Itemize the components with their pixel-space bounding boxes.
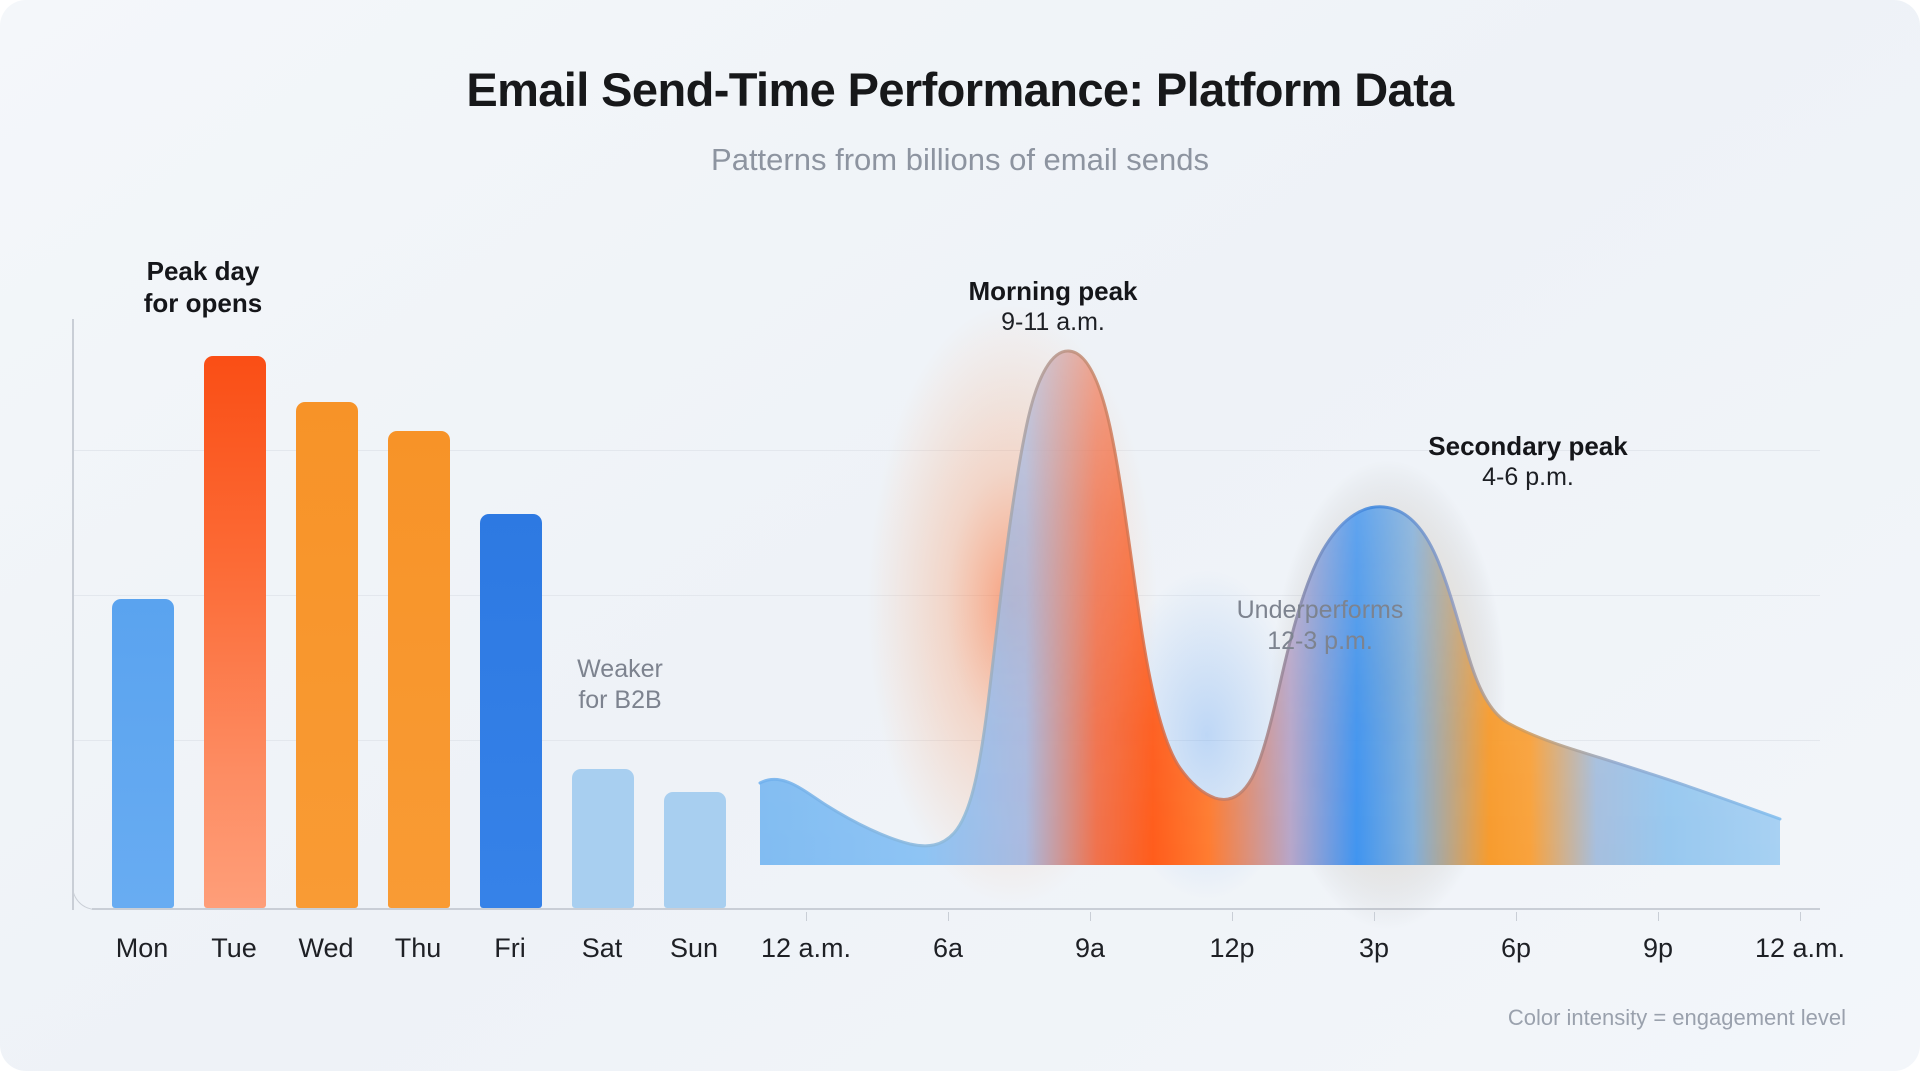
page-subtitle: Patterns from billions of email sends [0, 142, 1920, 178]
callout-secondary-peak-line2: 4-6 p.m. [1363, 462, 1693, 493]
callout-peak-day-line1: Peak day [88, 255, 318, 287]
callout-underperforms-line2: 12-3 p.m. [1200, 626, 1440, 657]
chart-footnote: Color intensity = engagement level [1508, 1005, 1846, 1031]
callout-morning-peak: Morning peak 9-11 a.m. [898, 275, 1208, 338]
tickmark [806, 912, 807, 921]
bar-sun[interactable] [664, 792, 726, 908]
callout-underperforms-line1: Underperforms [1200, 595, 1440, 626]
tickmark [1658, 912, 1659, 921]
bar-tue[interactable] [204, 356, 266, 908]
page-title: Email Send-Time Performance: Platform Da… [0, 62, 1920, 117]
xtick-hour-9p: 9p [1598, 933, 1718, 964]
callout-weaker-b2b: Weaker for B2B [520, 654, 720, 716]
callout-underperforms: Underperforms 12-3 p.m. [1200, 595, 1440, 657]
x-axis-baseline [92, 908, 1820, 910]
callout-weaker-b2b-line1: Weaker [520, 654, 720, 685]
xtick-hour-6a: 6a [888, 933, 1008, 964]
y-axis-spine [72, 319, 74, 910]
tickmark [1090, 912, 1091, 921]
callout-morning-peak-line2: 9-11 a.m. [898, 307, 1208, 338]
xtick-hour-12am-end: 12 a.m. [1720, 933, 1880, 964]
callout-morning-peak-line1: Morning peak [898, 275, 1208, 307]
tickmark [1516, 912, 1517, 921]
callout-peak-day: Peak day for opens [88, 255, 318, 319]
callout-secondary-peak-line1: Secondary peak [1363, 430, 1693, 462]
xtick-hour-12am-start: 12 a.m. [726, 933, 886, 964]
tickmark [1800, 912, 1801, 921]
xtick-hour-3p: 3p [1314, 933, 1434, 964]
tickmark [948, 912, 949, 921]
infographic-canvas: Email Send-Time Performance: Platform Da… [0, 0, 1920, 1071]
callout-secondary-peak: Secondary peak 4-6 p.m. [1363, 430, 1693, 493]
callout-peak-day-line2: for opens [88, 287, 318, 319]
callout-weaker-b2b-line2: for B2B [520, 685, 720, 716]
bar-mon[interactable] [112, 599, 174, 908]
bar-chart-days [112, 348, 792, 908]
bar-wed[interactable] [296, 402, 358, 908]
tickmark [1232, 912, 1233, 921]
xtick-hour-12p: 12p [1172, 933, 1292, 964]
xtick-hour-6p: 6p [1456, 933, 1576, 964]
chart-plot-area [72, 305, 1820, 910]
tickmark [1374, 912, 1375, 921]
xtick-hour-9a: 9a [1030, 933, 1150, 964]
bar-thu[interactable] [388, 431, 450, 908]
bar-sat[interactable] [572, 769, 634, 908]
